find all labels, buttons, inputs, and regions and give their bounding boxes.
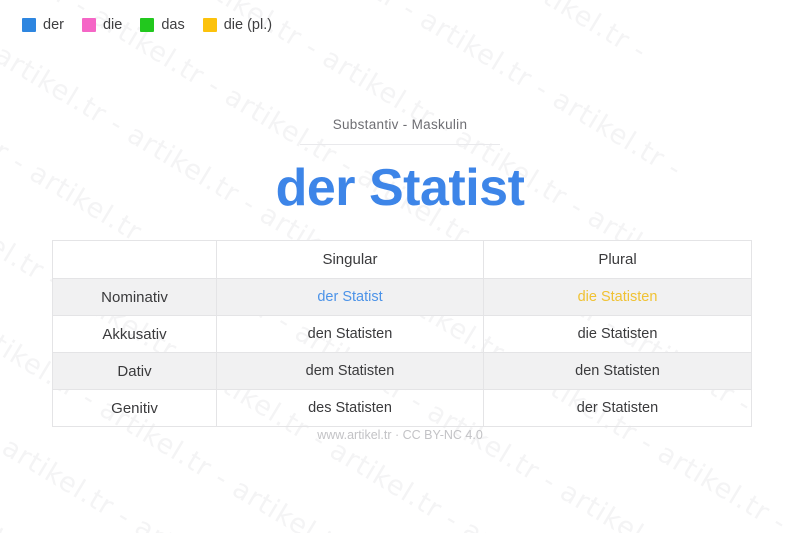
footer-attribution: www.artikel.tr · CC BY-NC 4.0 [0,428,800,442]
cell-akkusativ-singular: den Statisten [217,316,484,353]
header-divider [300,144,500,145]
cell-dativ-singular: dem Statisten [217,353,484,390]
table-row: Nominativ der Statist die Statisten [53,279,752,316]
color-swatch-icon [82,18,96,32]
value-nominativ-singular: der Statist [317,289,382,305]
word-category: Substantiv - Maskulin [300,117,500,132]
legend-item-das: das [140,17,184,33]
legend-label-die-plural: die (pl.) [224,17,272,33]
legend-label-der: der [43,17,64,33]
cell-genitiv-plural: der Statisten [484,390,752,427]
cell-genitiv-singular: des Statisten [217,390,484,427]
cell-nominativ-plural: die Statisten [484,279,752,316]
color-swatch-icon [203,18,217,32]
column-header-case [53,241,217,279]
legend-item-die-plural: die (pl.) [203,17,272,33]
case-label-nominativ: Nominativ [53,279,217,316]
cell-dativ-plural: den Statisten [484,353,752,390]
page-content: der die das die (pl.) Substantiv - Masku… [0,0,800,533]
column-header-singular: Singular [217,241,484,279]
value-nominativ-plural: die Statisten [578,289,658,305]
color-swatch-icon [22,18,36,32]
table-row: Akkusativ den Statisten die Statisten [53,316,752,353]
page-title: der Statist [0,158,800,218]
case-label-akkusativ: Akkusativ [53,316,217,353]
legend-item-der: der [22,17,64,33]
case-label-genitiv: Genitiv [53,390,217,427]
legend-item-die: die [82,17,122,33]
legend-label-das: das [161,17,184,33]
color-swatch-icon [140,18,154,32]
article-color-legend: der die das die (pl.) [22,17,272,33]
legend-label-die: die [103,17,122,33]
table-row: Dativ dem Statisten den Statisten [53,353,752,390]
declension-table: Singular Plural Nominativ der Statist di… [52,240,752,427]
word-category-block: Substantiv - Maskulin [300,117,500,145]
table-header-row: Singular Plural [53,241,752,279]
column-header-plural: Plural [484,241,752,279]
table-row: Genitiv des Statisten der Statisten [53,390,752,427]
cell-akkusativ-plural: die Statisten [484,316,752,353]
cell-nominativ-singular: der Statist [217,279,484,316]
case-label-dativ: Dativ [53,353,217,390]
